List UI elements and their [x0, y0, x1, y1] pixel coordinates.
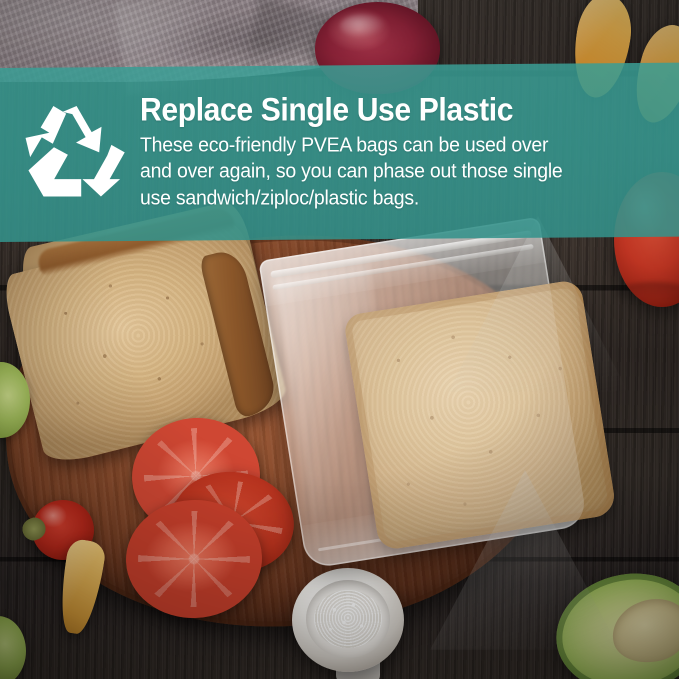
recycle-icon [18, 97, 134, 213]
banner-body-line-3: use sandwich/ziploc/plastic bags. [140, 185, 635, 212]
banner-body-line-1: These eco-friendly PVEA bags can be used… [140, 132, 635, 159]
banner-title: Replace Single Use Plastic [140, 93, 630, 127]
banner-text-block: Replace Single Use Plastic These eco-fri… [140, 91, 661, 212]
banner-body-line-2: and over again, so you can phase out tho… [140, 159, 635, 186]
product-image-scene: Replace Single Use Plastic These eco-fri… [0, 0, 679, 679]
marketing-banner: Replace Single Use Plastic These eco-fri… [0, 63, 679, 242]
banner-body: These eco-friendly PVEA bags can be used… [140, 132, 635, 212]
